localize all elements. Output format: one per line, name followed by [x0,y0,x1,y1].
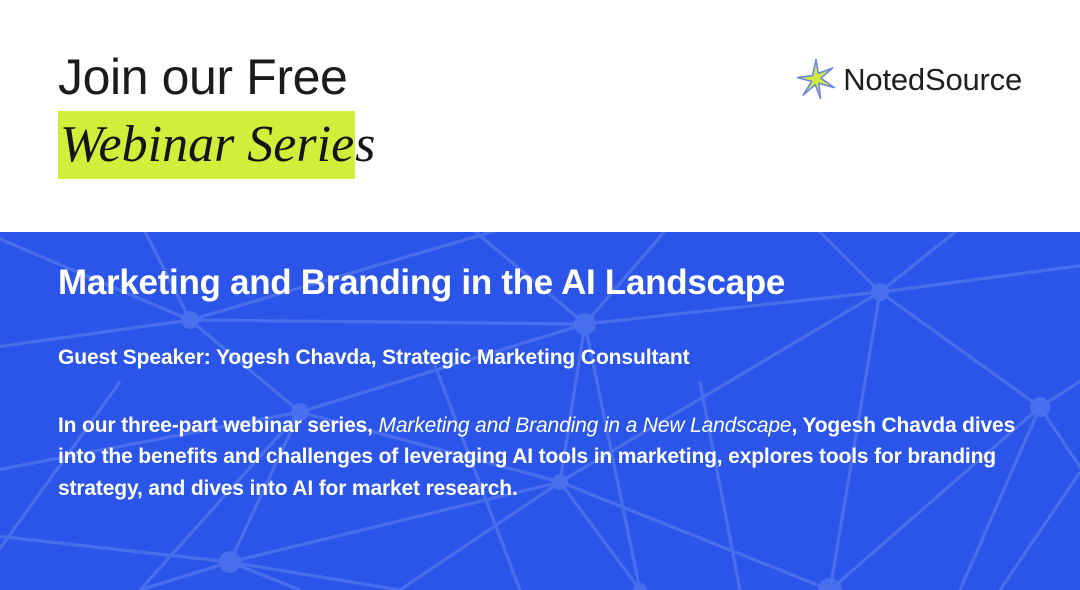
brand-wordmark: NotedSource [843,64,1022,95]
guest-speaker-line: Guest Speaker: Yogesh Chavda, Strategic … [58,303,1038,370]
star-asterisk-icon [796,58,836,100]
headline-line-2: Webinar Series [58,119,698,171]
brand-logo[interactable]: NotedSource [796,58,1022,100]
page-title: Join our Free Webinar Series [58,52,698,171]
description-part-1: In our three-part webinar series, [58,414,379,437]
panel-text-block: Marketing and Branding in the AI Landsca… [58,232,1038,504]
headline-highlight-tail: s [355,116,375,173]
content-panel: Marketing and Branding in the AI Landsca… [0,232,1080,590]
headline-highlight: Webinar Serie [58,111,355,179]
header-band: Join our Free Webinar Series NotedSource [0,0,1080,232]
webinar-title: Marketing and Branding in the AI Landsca… [58,232,1038,303]
webinar-promo-banner: Join our Free Webinar Series NotedSource [0,0,1080,590]
webinar-description: In our three-part webinar series, Market… [58,370,1023,505]
headline-line-1: Join our Free [58,52,698,102]
series-title-italic: Marketing and Branding in a New Landscap… [379,414,792,437]
